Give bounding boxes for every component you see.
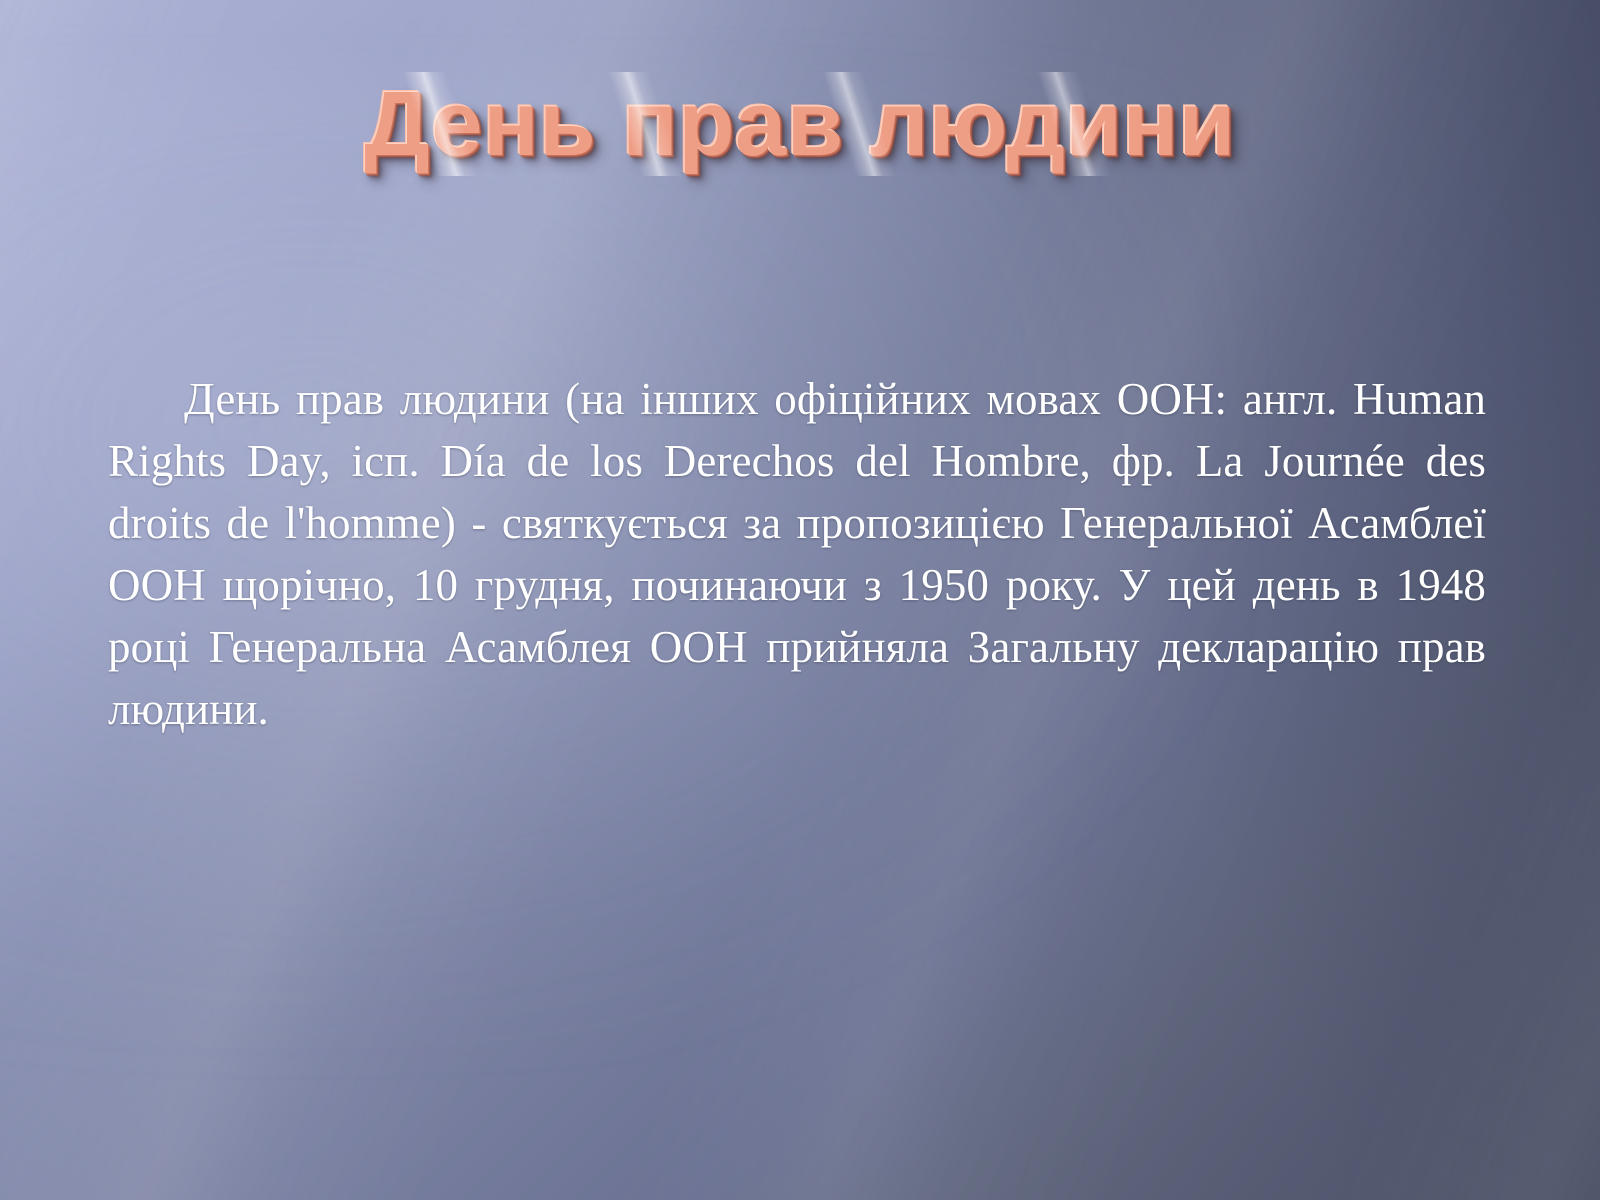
presentation-slide: День прав людини День прав людини (на ін… <box>0 0 1600 1200</box>
slide-title-container: День прав людини <box>0 78 1600 170</box>
slide-title: День прав людини <box>364 78 1235 170</box>
slide-body-container: День прав людини (на інших офіційних мов… <box>108 368 1486 740</box>
slide-body-text: День прав людини (на інших офіційних мов… <box>108 368 1486 740</box>
title-gloss-highlight <box>329 72 1270 175</box>
slide-content: День прав людини День прав людини (на ін… <box>0 0 1600 1200</box>
